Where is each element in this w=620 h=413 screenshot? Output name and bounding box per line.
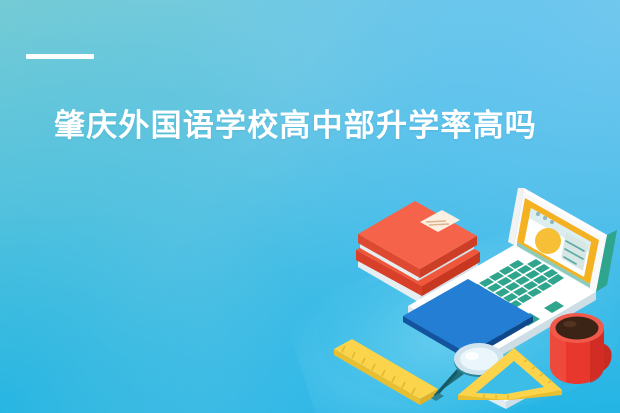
coffee-mug-icon [550, 313, 612, 384]
page-title: 肇庆外国语学校高中部升学率高吗 [54, 106, 574, 146]
coffee-surface [556, 317, 599, 340]
banner: 肇庆外国语学校高中部升学率高吗 [0, 0, 620, 413]
accent-dash [26, 54, 94, 59]
screen-avatar-icon [535, 228, 561, 254]
illustration-isometric-study-desk [318, 188, 620, 413]
